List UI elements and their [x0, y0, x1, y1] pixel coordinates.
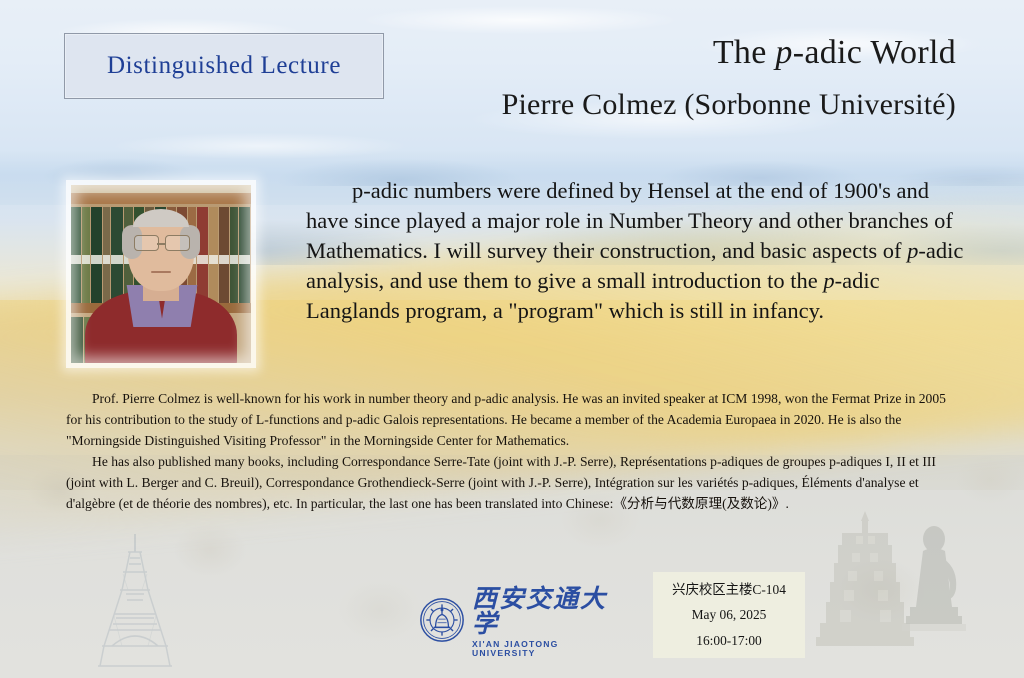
title-italic-p: p: [775, 34, 792, 71]
speaker-photo: [66, 180, 256, 368]
biography-text: Prof. Pierre Colmez is well-known for hi…: [66, 388, 964, 514]
page-title: The p-adic World: [336, 34, 956, 72]
lecture-poster: Distinguished Lecture The p-adic World P…: [0, 0, 1024, 678]
university-logo-text: 西安交通大学 XI'AN JIAOTONG UNIVERSITY: [472, 587, 619, 657]
abstract-italic-p-2: p: [823, 268, 834, 293]
university-name-cn: 西安交通大学: [472, 587, 619, 637]
portrait-image: [71, 185, 251, 363]
venue-details-box: 兴庆校区主楼C-104 May 06, 2025 16:00-17:00: [653, 572, 805, 658]
venue-location: 兴庆校区主楼C-104: [672, 583, 786, 596]
university-logo: 西安交通大学 XI'AN JIAOTONG UNIVERSITY: [419, 596, 619, 648]
title-prefix: The: [713, 34, 776, 71]
biography-paragraph-2: He has also published many books, includ…: [66, 451, 964, 514]
pagoda-icon: [806, 503, 986, 678]
abstract-italic-p-1: p: [907, 238, 918, 263]
biography-paragraph-1: Prof. Pierre Colmez is well-known for hi…: [66, 388, 964, 451]
portrait-vignette: [71, 185, 251, 363]
title-block: The p-adic World Pierre Colmez (Sorbonne…: [336, 34, 956, 122]
university-name-en: XI'AN JIAOTONG UNIVERSITY: [472, 640, 619, 657]
eiffel-tower-icon: [70, 528, 200, 678]
speaker-name: Pierre Colmez (Sorbonne Université): [336, 88, 956, 122]
title-suffix: -adic World: [793, 34, 956, 71]
venue-time: 16:00-17:00: [696, 634, 761, 647]
abstract-segment-1: p-adic numbers were defined by Hensel at…: [306, 178, 953, 263]
venue-date: May 06, 2025: [692, 608, 767, 621]
abstract-text: p-adic numbers were defined by Hensel at…: [306, 176, 966, 326]
badge-label: Distinguished Lecture: [107, 52, 341, 80]
university-seal-icon: [419, 597, 465, 648]
